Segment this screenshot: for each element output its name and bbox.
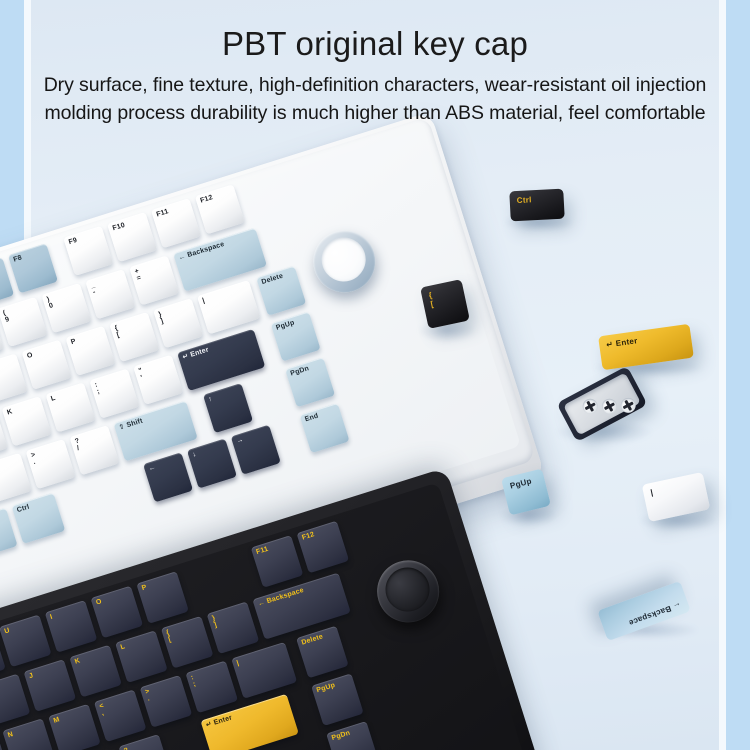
keycap-legend: O bbox=[21, 349, 33, 362]
keycap-legend: F9 bbox=[63, 234, 78, 248]
right-edge-strip bbox=[726, 0, 750, 750]
keycap-legend: U bbox=[0, 624, 11, 637]
cross-stem-icon bbox=[580, 396, 600, 416]
keycap-legend: ↓ bbox=[187, 448, 197, 460]
keycap-legend: P bbox=[136, 581, 148, 594]
header-block: PBT original key cap Dry surface, fine t… bbox=[31, 0, 719, 128]
product-banner: PBT original key cap Dry surface, fine t… bbox=[0, 0, 750, 750]
floating-keycap[interactable]: Ctrl bbox=[509, 189, 564, 222]
keycap-legend: N bbox=[2, 728, 14, 741]
keycap-legend: K bbox=[69, 655, 81, 668]
keycap-legend: | bbox=[642, 483, 654, 499]
page-subtitle: Dry surface, fine texture, high-definiti… bbox=[31, 62, 719, 127]
keycap-legend: Ctrl bbox=[509, 190, 532, 205]
keycap-legend: ↑ bbox=[203, 393, 213, 405]
right-divider bbox=[719, 0, 726, 750]
keycap-legend: M bbox=[48, 713, 61, 726]
keycap-surface: {[ bbox=[420, 279, 470, 329]
page-title: PBT original key cap bbox=[31, 0, 719, 62]
keycap-legend: ?/ bbox=[118, 744, 131, 750]
keycap-legend: J bbox=[23, 669, 34, 681]
keycap-legend: F8 bbox=[8, 251, 23, 265]
keycap-legend: P bbox=[65, 335, 77, 348]
keycap-surface: Ctrl bbox=[509, 189, 564, 222]
keycap-legend: ← bbox=[143, 461, 157, 474]
floating-keycap[interactable]: {[ bbox=[420, 279, 470, 329]
keycap-legend: O bbox=[90, 595, 102, 608]
keycap-legend: L bbox=[45, 392, 56, 404]
keycap-legend: K bbox=[2, 405, 14, 418]
keycap-legend: (9 bbox=[0, 306, 11, 325]
keycap-legend: L bbox=[115, 640, 126, 652]
cross-stem-icon bbox=[599, 396, 619, 416]
keycap-legend: → bbox=[231, 433, 245, 446]
